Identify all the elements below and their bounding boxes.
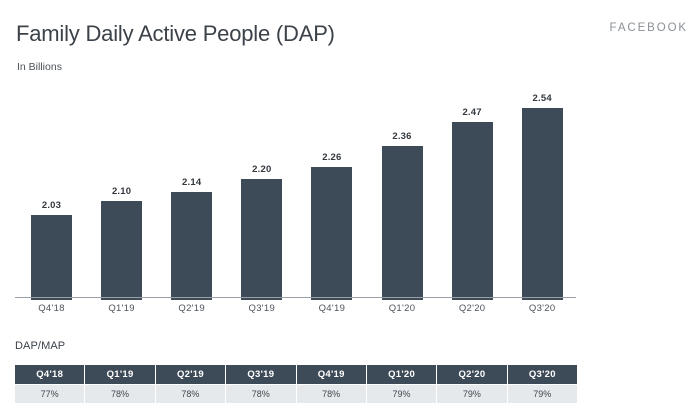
bar-value-label: 2.26 xyxy=(305,152,358,163)
x-tick-label: Q1'19 xyxy=(92,303,152,314)
bar-chart-plot: 2.032.102.142.202.262.362.472.54 xyxy=(0,95,700,300)
bar-column[interactable]: 2.36 xyxy=(382,95,423,300)
bar[interactable] xyxy=(382,146,423,300)
bar-value-label: 2.03 xyxy=(25,200,78,211)
bar-column[interactable]: 2.10 xyxy=(101,95,142,300)
x-tick-label: Q2'20 xyxy=(442,303,502,314)
bar[interactable] xyxy=(241,179,282,300)
table-header-cell: Q3'20 xyxy=(508,365,577,384)
table-cell: 79% xyxy=(508,385,577,403)
table-row: 77%78%78%78%78%79%79%79% xyxy=(15,385,577,403)
x-axis-tick-labels: Q4'18Q1'19Q2'19Q3'19Q4'19Q1'20Q2'20Q3'20 xyxy=(0,303,700,323)
x-tick-label: Q4'19 xyxy=(302,303,362,314)
table-header-cell: Q4'19 xyxy=(297,365,366,384)
table-cell: 79% xyxy=(437,385,506,403)
table-cell: 77% xyxy=(15,385,84,403)
x-axis-line xyxy=(15,297,576,298)
bar[interactable] xyxy=(101,201,142,300)
bar-value-label: 2.10 xyxy=(95,186,148,197)
bar[interactable] xyxy=(452,122,493,300)
x-tick-label: Q2'19 xyxy=(162,303,222,314)
table-header-cell: Q3'19 xyxy=(226,365,295,384)
bar-value-label: 2.54 xyxy=(516,93,569,104)
bar[interactable] xyxy=(522,108,563,300)
bar-column[interactable]: 2.54 xyxy=(522,95,563,300)
chart-subtitle: In Billions xyxy=(17,61,62,73)
table-cell: 78% xyxy=(297,385,366,403)
dap-map-table: Q4'18Q1'19Q2'19Q3'19Q4'19Q1'20Q2'20Q3'20… xyxy=(14,364,578,404)
bar-value-label: 2.47 xyxy=(446,107,499,118)
table-header-cell: Q2'19 xyxy=(156,365,225,384)
bar-column[interactable]: 2.47 xyxy=(452,95,493,300)
x-tick-label: Q3'20 xyxy=(512,303,572,314)
facebook-logo: FACEBOOK xyxy=(610,22,688,34)
bar-value-label: 2.14 xyxy=(165,177,218,188)
bar-value-label: 2.36 xyxy=(376,131,429,142)
bar-column[interactable]: 2.26 xyxy=(311,95,352,300)
table-cell: 78% xyxy=(85,385,154,403)
dap-map-caption: DAP/MAP xyxy=(15,340,65,352)
bar-column[interactable]: 2.20 xyxy=(241,95,282,300)
table-header-cell: Q4'18 xyxy=(15,365,84,384)
table-header-cell: Q2'20 xyxy=(437,365,506,384)
table-header-cell: Q1'20 xyxy=(367,365,436,384)
bar-value-label: 2.20 xyxy=(235,164,288,175)
bar[interactable] xyxy=(31,215,72,300)
table-cell: 78% xyxy=(156,385,225,403)
x-tick-label: Q3'19 xyxy=(232,303,292,314)
bar[interactable] xyxy=(171,192,212,300)
x-tick-label: Q4'18 xyxy=(22,303,82,314)
chart-header: Family Daily Active People (DAP) In Bill… xyxy=(0,0,700,90)
bar[interactable] xyxy=(311,167,352,300)
table-header-row: Q4'18Q1'19Q2'19Q3'19Q4'19Q1'20Q2'20Q3'20 xyxy=(15,365,577,384)
bar-column[interactable]: 2.14 xyxy=(171,95,212,300)
bar-column[interactable]: 2.03 xyxy=(31,95,72,300)
table-header-cell: Q1'19 xyxy=(85,365,154,384)
table-cell: 78% xyxy=(226,385,295,403)
table-cell: 79% xyxy=(367,385,436,403)
x-tick-label: Q1'20 xyxy=(372,303,432,314)
page-title: Family Daily Active People (DAP) xyxy=(16,21,335,47)
